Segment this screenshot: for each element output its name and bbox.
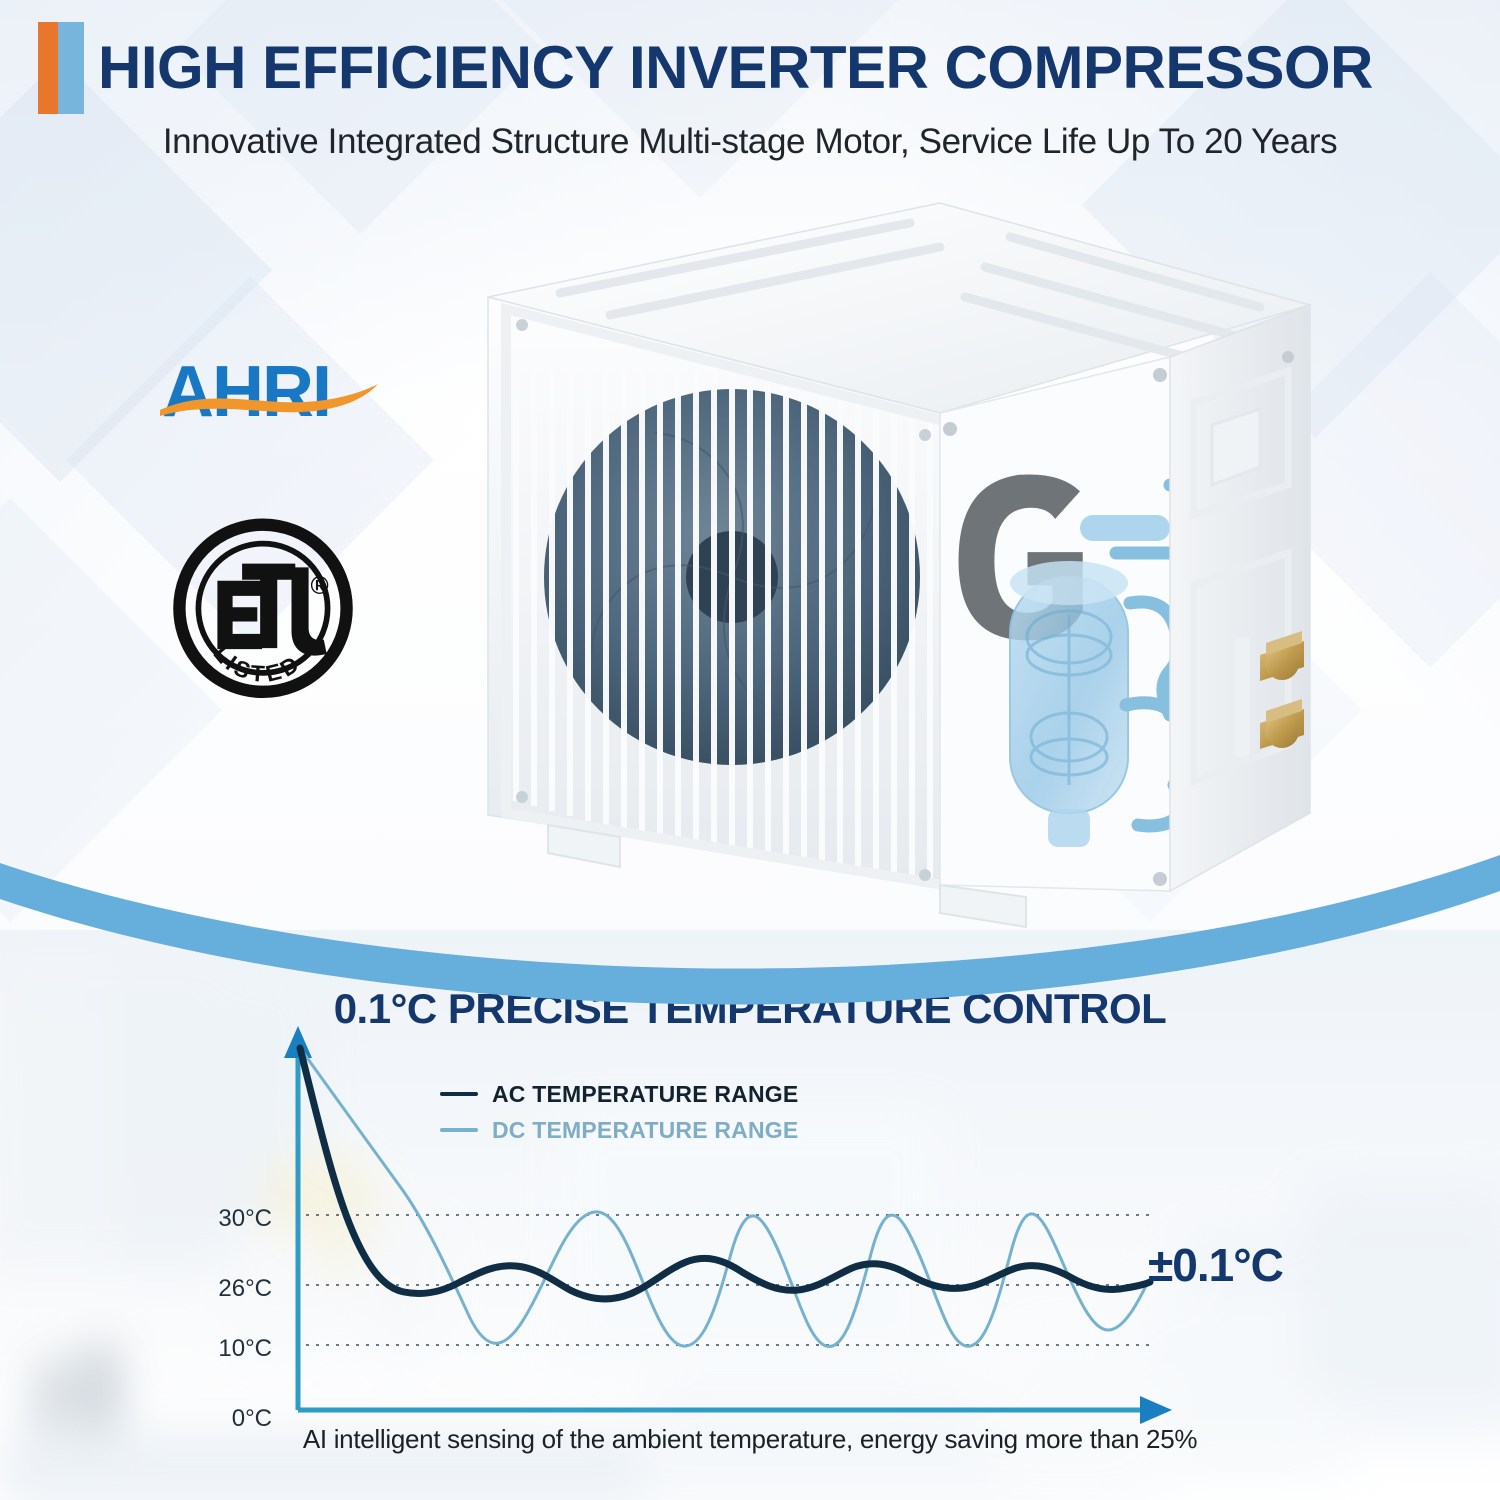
mounting-foot [940, 885, 1026, 927]
ahri-logo: AHRI [160, 352, 380, 432]
legend-item-dc: DC TEMPERATURE RANGE [440, 1112, 798, 1148]
y-axis-tick-labels: 30°C 26°C 10°C 0°C [190, 930, 272, 1500]
legend-swatch-ac-icon [440, 1092, 478, 1096]
tolerance-annotation: ±0.1°C [1148, 1238, 1283, 1292]
page-subtitle: Innovative Integrated Structure Multi-st… [0, 122, 1500, 162]
legend-swatch-dc-icon [440, 1128, 478, 1132]
y-tick-10: 10°C [192, 1335, 272, 1363]
etl-listed-badge: ® LISTED [168, 518, 358, 708]
page-title: HIGH EFFICIENCY INVERTER COMPRESSOR [84, 22, 1373, 114]
x-axis-arrow-icon [1140, 1396, 1172, 1424]
registered-mark: ® [311, 573, 329, 600]
accent-bar-orange [38, 22, 58, 114]
title-row: HIGH EFFICIENCY INVERTER COMPRESSOR [0, 22, 1500, 114]
y-tick-30: 30°C [192, 1205, 272, 1233]
promo-infographic: HIGH EFFICIENCY INVERTER COMPRESSOR Inno… [0, 0, 1500, 1500]
legend-item-ac: AC TEMPERATURE RANGE [440, 1076, 798, 1112]
ahri-logo-text: AHRI [162, 352, 330, 432]
outdoor-condenser-unit [470, 185, 1320, 930]
chart-legend: AC TEMPERATURE RANGE DC TEMPERATURE RANG… [440, 1076, 798, 1148]
y-tick-26: 26°C [192, 1275, 272, 1303]
chart-caption: AI intelligent sensing of the ambient te… [0, 1424, 1500, 1455]
header: HIGH EFFICIENCY INVERTER COMPRESSOR Inno… [0, 22, 1500, 162]
accent-bar-blue [58, 22, 84, 114]
legend-label-ac: AC TEMPERATURE RANGE [492, 1081, 798, 1108]
legend-label-dc: DC TEMPERATURE RANGE [492, 1117, 798, 1144]
